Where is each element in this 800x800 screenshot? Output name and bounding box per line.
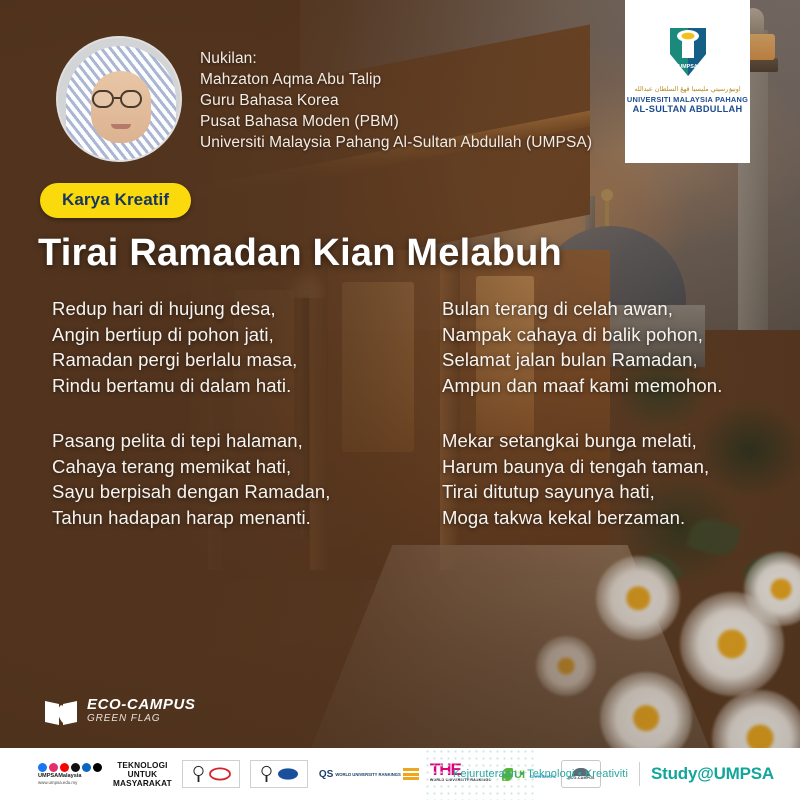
qs-label: QS xyxy=(319,769,333,780)
umpsa-jawi-text: اونيۏرسيتي مليسيا ڤهڠ السلطان عبدالله xyxy=(634,85,740,93)
poem-line: Ampun dan maaf kami memohon. xyxy=(442,373,772,399)
poem-column-left: Redup hari di hujung desa, Angin bertiup… xyxy=(52,296,382,560)
poem-line: Bulan terang di celah awan, xyxy=(442,296,772,322)
eco-campus-logo: ECO-CAMPUS GREEN FLAG xyxy=(44,696,196,726)
eco-campus-text: ECO-CAMPUS GREEN FLAG xyxy=(87,697,196,725)
iso-ring-icon xyxy=(277,767,299,781)
umpsa-logo-box: UMPSA اونيۏرسيتي مليسيا ڤهڠ السلطان عبدا… xyxy=(625,0,750,163)
poem-line: Nampak cahaya di balik pohon, xyxy=(442,322,772,348)
qs-sub: WORLD UNIVERSITY RANKINGS xyxy=(335,772,401,777)
footer-divider xyxy=(639,762,640,786)
byline-line-2: Guru Bahasa Korea xyxy=(200,90,592,111)
avatar-glasses-right xyxy=(120,90,142,108)
poem-line: Harum baunya di tengah taman, xyxy=(442,454,772,480)
facebook-icon[interactable] xyxy=(38,763,47,772)
x-twitter-icon[interactable] xyxy=(71,763,80,772)
youtube-icon[interactable] xyxy=(60,763,69,772)
byline-line-4: Universiti Malaysia Pahang Al-Sultan Abd… xyxy=(200,132,592,153)
certification-seal-icon xyxy=(191,765,206,784)
poem-line: Ramadan pergi berlalu masa, xyxy=(52,347,382,373)
umpsa-name-line-1: UNIVERSITI MALAYSIA PAHANG xyxy=(627,95,748,104)
poem-line: Cahaya terang memikat hati, xyxy=(52,454,382,480)
poem-line: Angin bertiup di pohon jati, xyxy=(52,322,382,348)
poem-line: Tahun hadapan harap menanti. xyxy=(52,505,382,531)
footer-tagline: Kejuruteraan • Teknologi • Kreativiti xyxy=(453,768,628,780)
byline-line-1: Mahzaton Aqma Abu Talip xyxy=(200,69,592,90)
social-icons xyxy=(38,763,102,772)
stanza: Bulan terang di celah awan, Nampak cahay… xyxy=(442,296,772,398)
avatar-glasses-left xyxy=(92,90,114,108)
page-title: Tirai Ramadan Kian Melabuh xyxy=(38,232,738,275)
tiktok-icon[interactable] xyxy=(93,763,102,772)
umpsa-name-line-2: AL-SULTAN ABDULLAH xyxy=(633,104,743,114)
iso-14001-badge xyxy=(250,760,308,788)
poem: Redup hari di hujung desa, Angin bertiup… xyxy=(52,296,772,560)
poster-canvas: Nukilan: Mahzaton Aqma Abu Talip Guru Ba… xyxy=(0,0,800,800)
stanza: Mekar setangkai bunga melati, Harum baun… xyxy=(442,428,772,530)
byline: Nukilan: Mahzaton Aqma Abu Talip Guru Ba… xyxy=(200,48,592,153)
iso-ring-icon xyxy=(209,767,231,781)
qs-bars-icon xyxy=(403,768,419,780)
byline-line-0: Nukilan: xyxy=(200,48,592,69)
umpsa-url: www.umpsa.edu.my xyxy=(38,780,102,786)
umpsa-handle: UMPSAMalaysia xyxy=(38,773,102,780)
avatar xyxy=(56,36,182,162)
poem-line: Moga takwa kekal berzaman. xyxy=(442,505,772,531)
open-book-leaf-icon xyxy=(44,696,78,726)
umpsa-social-block: UMPSAMalaysia www.umpsa.edu.my xyxy=(38,763,102,786)
avatar-mouth xyxy=(111,124,131,129)
footer-bar: UMPSAMalaysia www.umpsa.edu.my TEKNOLOGI… xyxy=(0,748,800,800)
stanza: Redup hari di hujung desa, Angin bertiup… xyxy=(52,296,382,398)
karya-kreatif-badge[interactable]: Karya Kreatif xyxy=(40,183,191,218)
slogan-line-1: UNTUK xyxy=(113,770,172,779)
poem-line: Pasang pelita di tepi halaman, xyxy=(52,428,382,454)
eco-campus-line-2: GREEN FLAG xyxy=(87,713,196,725)
poem-line: Tirai ditutup sayunya hati, xyxy=(442,479,772,505)
slogan-line-2: MASYARAKAT xyxy=(113,779,172,788)
linkedin-icon[interactable] xyxy=(82,763,91,772)
footer-right-group: Kejuruteraan • Teknologi • Kreativiti St… xyxy=(453,748,774,800)
poem-column-right: Bulan terang di celah awan, Nampak cahay… xyxy=(442,296,772,560)
instagram-icon[interactable] xyxy=(49,763,58,772)
poem-line: Selamat jalan bulan Ramadan, xyxy=(442,347,772,373)
byline-line-3: Pusat Bahasa Moden (PBM) xyxy=(200,111,592,132)
poem-line: Mekar setangkai bunga melati, xyxy=(442,428,772,454)
poem-line: Sayu berpisah dengan Ramadan, xyxy=(52,479,382,505)
umpsa-logo-icon: UMPSA xyxy=(664,24,712,80)
slogan-line-0: TEKNOLOGI xyxy=(113,761,172,770)
study-umpsa-label[interactable]: Study@UMPSA xyxy=(651,764,774,784)
avatar-glasses-bridge xyxy=(114,97,122,99)
stanza: Pasang pelita di tepi halaman, Cahaya te… xyxy=(52,428,382,530)
eco-campus-line-1: ECO-CAMPUS xyxy=(87,697,196,713)
slogan-block: TEKNOLOGI UNTUK MASYARAKAT xyxy=(113,761,172,788)
svg-text:UMPSA: UMPSA xyxy=(678,64,698,70)
qs-ranking-badge: QS WORLD UNIVERSITY RANKINGS xyxy=(319,761,419,787)
poem-line: Rindu bertamu di dalam hati. xyxy=(52,373,382,399)
poem-line: Redup hari di hujung desa, xyxy=(52,296,382,322)
certification-seal-icon xyxy=(259,765,274,784)
iso-9001-badge xyxy=(182,760,240,788)
